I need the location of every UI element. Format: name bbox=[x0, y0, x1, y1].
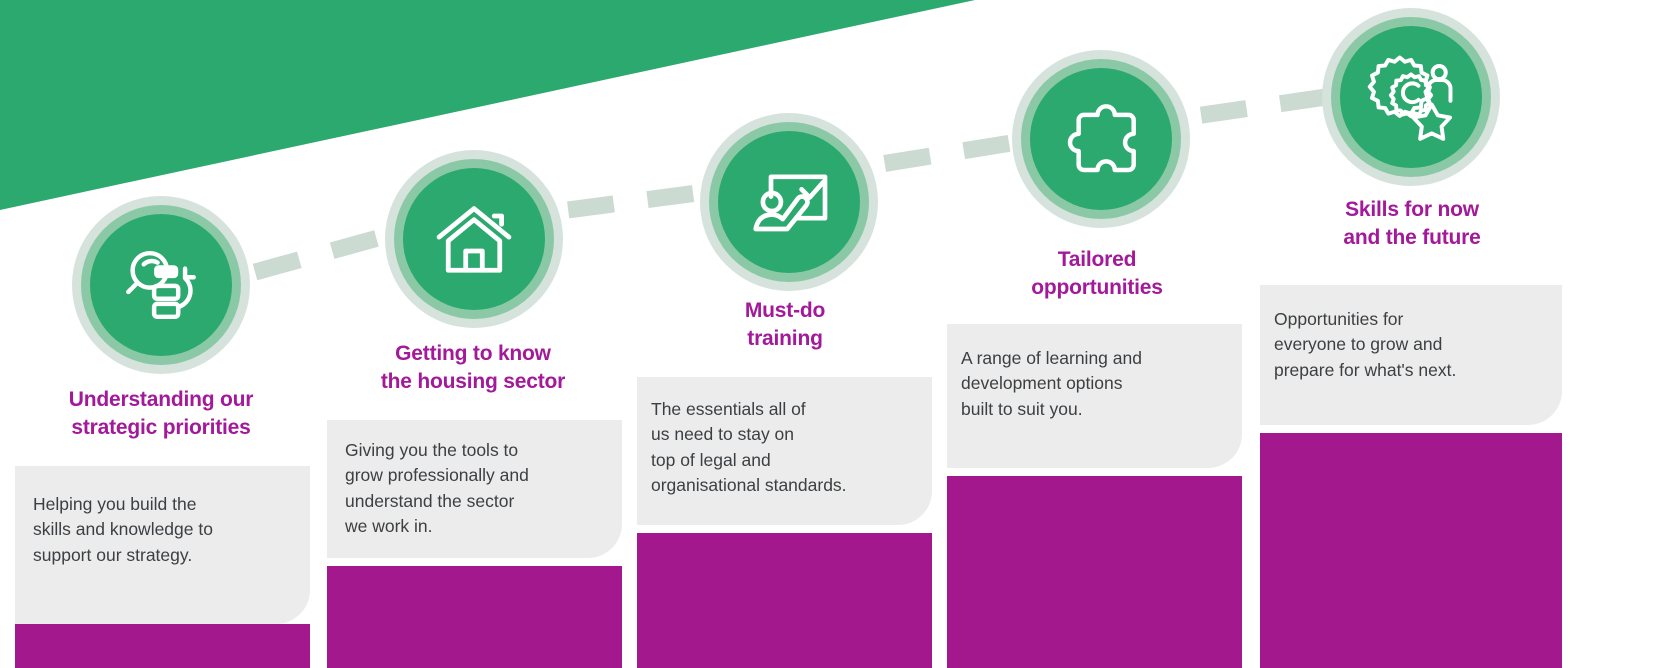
step-5-icon-circle[interactable] bbox=[1322, 8, 1500, 186]
infographic-stage: Understanding our strategic priorities H… bbox=[0, 0, 1674, 668]
step-4-icon-circle[interactable] bbox=[1012, 50, 1190, 228]
magnifier-blocks-refresh-icon bbox=[118, 242, 204, 328]
person-presentation-checkmark-icon bbox=[744, 157, 834, 247]
step-5-accent-bar bbox=[1260, 433, 1562, 668]
step-3-description-card: The essentials all of us need to stay on… bbox=[637, 377, 932, 525]
step-2-accent-bar bbox=[327, 566, 622, 668]
step-2-description-card: Giving you the tools to grow professiona… bbox=[327, 420, 622, 558]
step-4-description-text: A range of learning and development opti… bbox=[961, 346, 1142, 422]
step-2-description-text: Giving you the tools to grow professiona… bbox=[345, 438, 529, 540]
step-5-description-text: Opportunities for everyone to grow and p… bbox=[1274, 307, 1456, 383]
step-1-heading: Understanding our strategic priorities bbox=[18, 386, 304, 441]
step-3-description-text: The essentials all of us need to stay on… bbox=[651, 397, 847, 499]
gears-person-star-icon bbox=[1364, 50, 1458, 144]
step-3-accent-bar bbox=[637, 533, 932, 668]
step-5-heading: Skills for now and the future bbox=[1266, 196, 1558, 251]
step-2-heading: Getting to know the housing sector bbox=[330, 340, 616, 395]
step-column-2: Getting to know the housing sector Givin… bbox=[312, 0, 632, 668]
step-2-icon-circle[interactable] bbox=[385, 150, 563, 328]
puzzle-piece-icon bbox=[1058, 96, 1144, 182]
step-3-heading: Must-do training bbox=[642, 297, 928, 352]
step-4-accent-bar bbox=[947, 476, 1242, 668]
step-column-1: Understanding our strategic priorities H… bbox=[0, 0, 320, 668]
step-4-heading: Tailored opportunities bbox=[954, 246, 1240, 301]
house-icon bbox=[428, 193, 520, 285]
step-1-description-card: Helping you build the skills and knowled… bbox=[15, 466, 310, 624]
step-5-description-card: Opportunities for everyone to grow and p… bbox=[1260, 285, 1562, 425]
step-column-4: Tailored opportunities A range of learni… bbox=[936, 0, 1256, 668]
step-column-5: Skills for now and the future Opportunit… bbox=[1248, 0, 1574, 668]
step-1-accent-bar bbox=[15, 624, 310, 668]
step-3-icon-circle[interactable] bbox=[700, 113, 878, 291]
step-1-description-text: Helping you build the skills and knowled… bbox=[33, 492, 213, 568]
step-column-3: Must-do training The essentials all of u… bbox=[624, 0, 944, 668]
step-1-icon-circle[interactable] bbox=[72, 196, 250, 374]
step-4-description-card: A range of learning and development opti… bbox=[947, 324, 1242, 468]
